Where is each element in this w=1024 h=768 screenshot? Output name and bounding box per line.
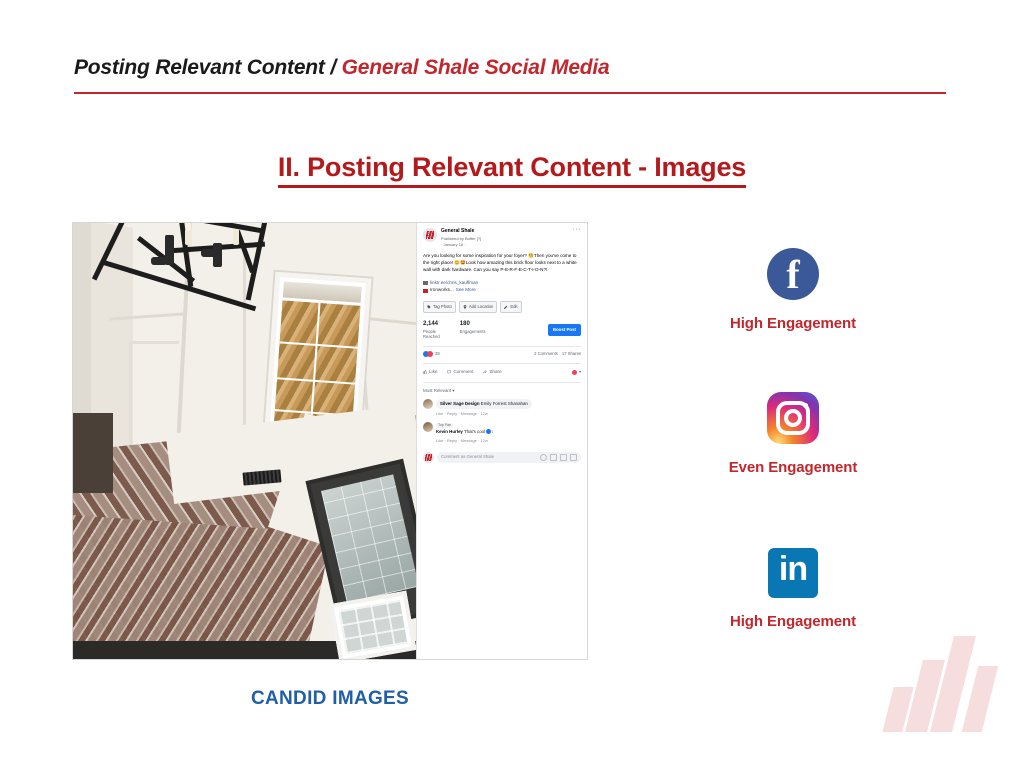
linkedin-glyph: in [768, 552, 818, 586]
facebook-post-panel: General Shale Published by Buffer [?] · … [416, 223, 587, 659]
share-button[interactable]: Share [483, 369, 501, 376]
comment-text: That's cool [463, 429, 485, 434]
reach-label-2: Reached [423, 334, 440, 340]
love-reaction-icon [427, 351, 433, 357]
fb-post-edit-actions: Tag Photo Add Location Edit [423, 301, 581, 313]
sticker-icon[interactable] [570, 454, 577, 461]
header-title: Posting Relevant Content / General Shale… [74, 56, 950, 80]
fb-post-header: General Shale Published by Buffer [?] · … [423, 228, 581, 248]
share-count[interactable]: 17 Shares [562, 351, 581, 357]
comment-author[interactable]: Kevin Hurley [436, 429, 463, 434]
fb-post-body: Are you looking for some inspiration for… [423, 253, 581, 274]
fb-post-date: · January 16 · [441, 242, 481, 248]
comment-composer: Comment as General Shale [423, 452, 581, 463]
social-platform-instagram: Even Engagement [668, 392, 918, 476]
engagements-label: Engagements [460, 329, 486, 335]
location-pin-icon [463, 305, 467, 309]
comment-author[interactable]: Silver Sage Design [440, 401, 480, 406]
add-location-button[interactable]: Add Location [459, 301, 497, 313]
comment-input[interactable]: Comment as General Shale [437, 452, 581, 463]
header-title-red: General Shale Social Media [342, 56, 610, 79]
social-post-screenshot: General Shale Published by Buffer [?] · … [72, 222, 588, 660]
comment-sort-dropdown[interactable]: Most Relevant ▾ [423, 388, 581, 394]
share-arrow-icon [483, 370, 487, 374]
divider-3 [423, 382, 581, 383]
camera-icon[interactable] [550, 454, 557, 461]
divider [423, 346, 581, 347]
composer-avatar [423, 452, 434, 463]
engagements-value: 180 [460, 320, 486, 329]
header-divider-rule [74, 92, 946, 94]
fb-action-bar: Like Comment Share ▾ [423, 369, 581, 376]
engagements-stat: 180 Engagements [460, 320, 486, 334]
like-button[interactable]: Like [423, 369, 437, 376]
header-title-separator: / [325, 56, 342, 79]
instagram-icon[interactable] [767, 392, 819, 449]
slide-header: Posting Relevant Content / General Shale… [74, 56, 950, 80]
see-more-link[interactable]: See More [456, 287, 476, 294]
divider-2 [423, 363, 581, 364]
emoji-icon[interactable] [540, 454, 547, 461]
edit-button[interactable]: Edit [500, 301, 521, 313]
reaction-picker[interactable]: ▾ [572, 369, 581, 375]
tag-icon [427, 305, 431, 309]
general-shale-watermark-logo [884, 632, 994, 738]
comment-bubble-icon [447, 370, 451, 374]
comment-input-placeholder: Comment as General Shale [441, 454, 494, 460]
boost-post-button[interactable]: Boost Post [548, 324, 581, 336]
lower-window [329, 591, 416, 659]
facebook-glyph: f [767, 255, 819, 295]
avatar [423, 399, 433, 409]
comment-meta[interactable]: Like · Reply · Message · 12w [436, 438, 587, 444]
list-item: Silver Sage Design Emily Forrest Shanaha… [423, 399, 581, 409]
comment-meta[interactable]: Like · Reply · Message · 12w [436, 411, 587, 417]
fb-page-name[interactable]: General Shale [441, 228, 481, 235]
fb-reactions-row: 38 2 Comments 17 Shares [423, 351, 581, 357]
gif-icon[interactable] [560, 454, 567, 461]
comment-bubble: Silver Sage Design Emily Forrest Shanaha… [436, 399, 532, 409]
candid-images-caption: CANDID IMAGES [72, 688, 588, 710]
page-avatar [423, 228, 437, 242]
social-platform-linkedin: in High Engagement [668, 548, 918, 630]
fb-post-insights: 2,144 People Reached 180 Engagements Boo… [423, 320, 581, 340]
section-heading-text: II. Posting Relevant Content - Images [278, 152, 746, 188]
list-item: Top Fan Kevin Hurley That's cool 1 [423, 422, 581, 436]
header-title-black: Posting Relevant Content [74, 56, 325, 79]
comment-button[interactable]: Comment [447, 369, 473, 376]
comment-reaction-count: 1 [491, 430, 493, 434]
thumbs-up-icon [423, 370, 427, 374]
link-marker-icon [423, 281, 428, 285]
brand-marker-icon [423, 289, 428, 293]
section-heading: II. Posting Relevant Content - Images [0, 152, 1024, 188]
fb-post-links: linktr.ee/chris_kauffman Ironworks... Se… [423, 280, 581, 294]
facebook-icon[interactable]: f [767, 248, 819, 305]
avatar [423, 422, 433, 432]
comment-line: Kevin Hurley That's cool 1 [436, 429, 493, 436]
pencil-icon [504, 305, 508, 309]
reaction-count[interactable]: 38 [435, 351, 440, 357]
top-fan-badge: Top Fan [436, 423, 453, 428]
linkedin-icon[interactable]: in [768, 548, 818, 603]
comment-count[interactable]: 2 Comments [534, 351, 558, 357]
fb-link-secondary: Ironworks... [430, 287, 454, 294]
fb-link-primary[interactable]: linktr.ee/chris_kauffman [430, 280, 478, 287]
comment-text: Emily Forrest Shanahan [480, 401, 528, 406]
facebook-engagement-label: High Engagement [668, 315, 918, 332]
foyer-photo [73, 223, 416, 659]
linkedin-engagement-label: High Engagement [668, 613, 918, 630]
instagram-engagement-label: Even Engagement [668, 459, 918, 476]
reach-value: 2,144 [423, 320, 440, 329]
social-platform-facebook: f High Engagement [668, 248, 918, 332]
more-options-icon[interactable]: ··· [573, 228, 582, 232]
reach-stat: 2,144 People Reached [423, 320, 440, 340]
tag-photo-button[interactable]: Tag Photo [423, 301, 456, 313]
